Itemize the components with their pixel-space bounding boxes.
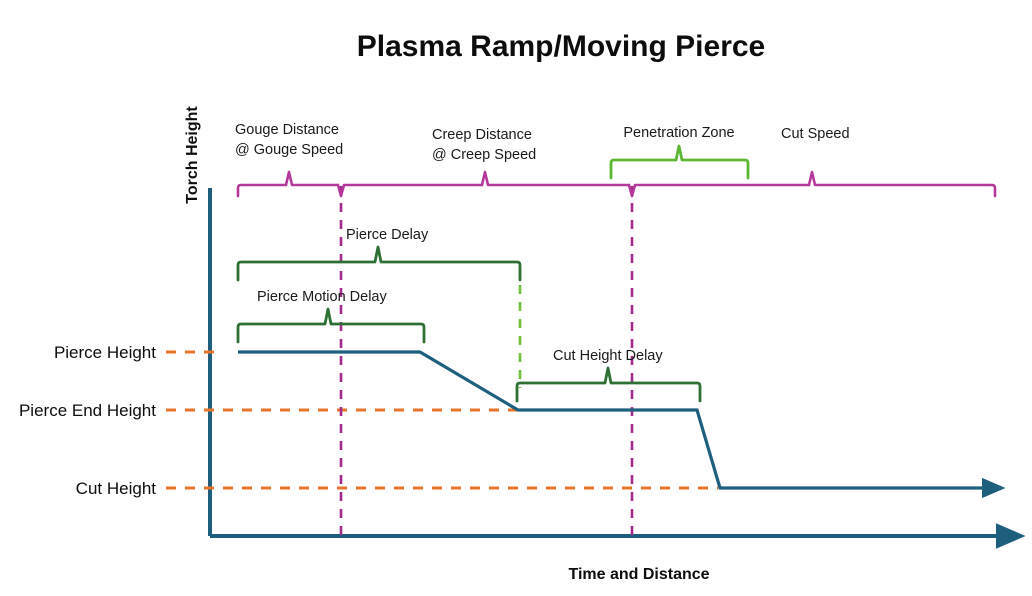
label-cut-speed: Cut Speed [781, 126, 850, 142]
bracket-pierce-delay-path [238, 247, 520, 280]
label-creep-distance-line1: Creep Distance [432, 127, 532, 143]
speed-bracket-right-cap [992, 185, 995, 196]
speed-bracket-cutspeed-tick [809, 172, 992, 185]
label-pierce-delay: Pierce Delay [346, 227, 429, 243]
speed-bracket-gouge-tick [286, 172, 338, 185]
x-axis-title: Time and Distance [568, 566, 709, 583]
bracket-penetration-zone-path [611, 146, 748, 178]
speed-bracket-boundary-2 [629, 185, 809, 196]
label-creep-distance-line2: @ Creep Speed [432, 147, 536, 163]
speed-bracket-group [238, 172, 995, 196]
speed-bracket-creep-tick [482, 172, 629, 185]
level-lines [166, 352, 718, 488]
label-pierce-motion-delay: Pierce Motion Delay [257, 289, 387, 305]
y-axis-title: Torch Height [184, 106, 201, 204]
label-gouge-distance-line2: @ Gouge Speed [235, 142, 343, 158]
bracket-cut-height-delay [517, 368, 700, 401]
label-cut-height-delay: Cut Height Delay [553, 348, 663, 364]
torch-height-curve [238, 352, 985, 488]
speed-bracket-boundary-1 [338, 185, 482, 196]
bracket-pierce-motion-delay [238, 309, 424, 342]
label-gouge-distance-line1: Gouge Distance [235, 122, 339, 138]
bracket-pierce-motion-delay-path [238, 309, 424, 342]
speed-bracket-left-cap [238, 185, 286, 196]
level-label-pierce-height: Pierce Height [54, 343, 156, 362]
bracket-penetration-zone [611, 146, 748, 178]
label-penetration-zone: Penetration Zone [623, 125, 734, 141]
diagram-canvas: Plasma Ramp/Moving Pierce Torch Height T… [0, 0, 1032, 596]
plasma-ramp-diagram: Plasma Ramp/Moving Pierce Torch Height T… [0, 0, 1032, 596]
level-label-pierce-end-height: Pierce End Height [19, 401, 156, 420]
page-title: Plasma Ramp/Moving Pierce [357, 30, 766, 63]
bracket-pierce-delay [238, 247, 520, 280]
bracket-cut-height-delay-path [517, 368, 700, 401]
level-label-cut-height: Cut Height [76, 479, 157, 498]
